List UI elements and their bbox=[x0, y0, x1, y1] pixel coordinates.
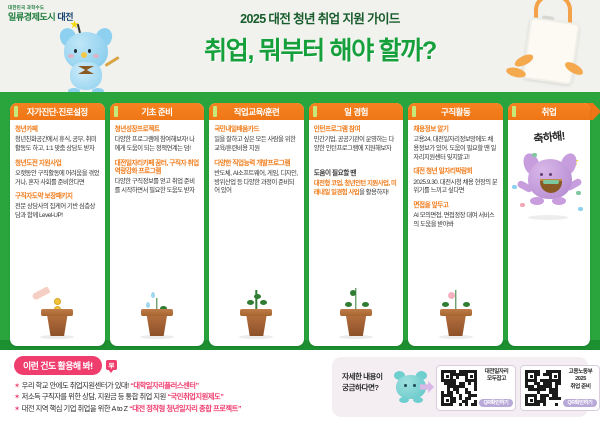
item-body: 민간기업, 공공기관이 운영하는 다양한 인턴프로그램에 지원해보자 bbox=[314, 136, 399, 153]
item-title: 대전 청년 일자리박람회 bbox=[413, 168, 498, 176]
qr-card-daejeon[interactable]: 대전일자리 모두잡고 QR확인하기 bbox=[436, 365, 516, 411]
tag-icon bbox=[412, 106, 416, 117]
stage-column-employment[interactable]: 취업 축하해! bbox=[508, 103, 590, 346]
footer-tips: 이런 건도 활용해 봐!早 ✶우리 학교 안에도 취업지원센터가 있대! “대학… bbox=[14, 356, 314, 414]
item-body: 2025.9.30. 대전시청 채용 현장의 분위기를 느끼고 싶다면 bbox=[413, 179, 498, 196]
plant-flower-icon bbox=[408, 290, 503, 340]
bullet-highlight: “대전 정착형 청년일자리 종합 프로젝트” bbox=[129, 404, 241, 413]
qr-code-icon bbox=[441, 370, 477, 406]
page-title: 취업, 뭐부터 해야 할까? bbox=[120, 31, 520, 67]
list-item: 청년성장프로젝트 다양한 프로그램에 참여해보자! 나에게 도움이 되는 정책연… bbox=[115, 126, 200, 154]
header-titles: 2025 대전 청년 취업 지원 가이드 취업, 뭐부터 해야 할까? bbox=[120, 8, 520, 67]
tag-icon bbox=[114, 106, 118, 117]
item-title: 채용정보 알기 bbox=[413, 126, 498, 134]
column-header: 직업교육/훈련 bbox=[209, 103, 304, 120]
stage-column-work-experience[interactable]: 일 경험 인턴프로그램 참여 민간기업, 공공기관이 운영하는 다양한 인턴프로… bbox=[309, 103, 404, 346]
item-body: 다양한 프로그램에 참여해보자! 나에게 도움이 되는 정책연계는 덤! bbox=[115, 136, 200, 153]
plant-seed-icon bbox=[10, 290, 105, 340]
item-highlight: 대전형 코업, 청년인턴 지원사업, 미래내일 일경험 사업을 활용하자! bbox=[314, 180, 399, 197]
qr-card-moel[interactable]: 고용노동부 2025 취업 준비 QR확인하기 bbox=[520, 365, 600, 411]
list-item: 국민내일배움카드 일을 잘하고 싶은 모든 사람을 위한 교육/훈련비용 지원 bbox=[214, 126, 299, 154]
item-tail: 을 활용하자! bbox=[359, 189, 388, 196]
column-header-label: 직업교육/훈련 bbox=[234, 106, 280, 118]
footer-bullet-list: ✶우리 학교 안에도 취업지원센터가 있대! “대학일자리플러스센터” ✶저소득… bbox=[14, 380, 314, 414]
plant-sprout-icon bbox=[110, 290, 205, 340]
plant-bud-icon bbox=[309, 290, 404, 340]
bullet-text: 우리 학교 안에도 취업지원센터가 있대! bbox=[22, 381, 131, 390]
purple-mascot-icon bbox=[518, 151, 582, 217]
footer-pill-label: 이런 건도 활용해 봐! bbox=[14, 356, 102, 375]
list-item: ✶우리 학교 안에도 취업지원센터가 있대! “대학일자리플러스센터” bbox=[14, 380, 314, 391]
stage-column-job-search[interactable]: 구직활동 채용정보 알기 고용24, 대전일자리정보망에도 채용정보가 있어. … bbox=[408, 103, 503, 346]
poster-footer: 이런 건도 활용해 봐!早 ✶우리 학교 안에도 취업지원센터가 있대! “대학… bbox=[0, 350, 600, 424]
stage-column-self-diagnosis[interactable]: 자가진단·진로설정 청년카페 청년친화공간에서 휴식, 공부, 취미활동도 하고… bbox=[10, 103, 105, 346]
column-header-label: 구직활동 bbox=[441, 106, 470, 118]
qr-panel: 자세한 내용이 궁금하다면? 대전일자리 모두잡고 QR확인하기 고용노동부 2… bbox=[332, 357, 588, 417]
item-body: 일을 잘하고 싶은 모든 사람을 위한 교육/훈련비용 지원 bbox=[214, 136, 299, 153]
brand-line2: 일류경제도시 대전 bbox=[8, 13, 73, 22]
column-header-label: 일 경험 bbox=[344, 106, 368, 118]
list-item: 청년카페 청년친화공간에서 휴식, 공부, 취미활동도 하고, 1:1 맞춤 상… bbox=[15, 126, 100, 154]
list-item: 다양한 직업능력 개발프로그램 반도체, AI소프트웨어, 게임, 디자인, 방… bbox=[214, 160, 299, 196]
item-title: 면접을 앞두고 bbox=[413, 202, 498, 210]
bullet-text: 저소득 구직자를 위한 상담, 지원금 등 통합 취업 지원 bbox=[22, 392, 168, 401]
column-header-label: 자가진단·진로설정 bbox=[27, 106, 88, 118]
qr-code-icon bbox=[525, 370, 561, 406]
qr-card-label: 대전일자리 모두잡고 bbox=[480, 369, 513, 384]
list-item: ✶저소득 구직자를 위한 상담, 지원금 등 통합 취업 지원 “국민취업지원제… bbox=[14, 391, 314, 402]
column-header: 취업 bbox=[508, 103, 590, 120]
qr-card-label: 고용노동부 2025 취업 준비 bbox=[564, 369, 597, 391]
bullet-highlight: “국민취업지원제도” bbox=[167, 392, 223, 401]
qr-confirm-button[interactable]: QR확인하기 bbox=[563, 399, 597, 407]
item-title: 인턴프로그램 참여 bbox=[314, 126, 399, 134]
stage-columns: 자가진단·진로설정 청년카페 청년친화공간에서 휴식, 공부, 취미활동도 하고… bbox=[10, 103, 590, 346]
item-body: 반도체, AI소프트웨어, 게임, 디자인, 방위산업 등 다양한 과정이 준비… bbox=[214, 170, 299, 196]
column-header: 자가진단·진로설정 bbox=[10, 103, 105, 120]
brand-line2-b: 대전 bbox=[57, 12, 73, 22]
list-item: 도움이 필요할 땐 대전형 코업, 청년인턴 지원사업, 미래내일 일경험 사업… bbox=[314, 170, 399, 198]
brand-line1: 대한민국 과학수도 bbox=[8, 6, 73, 11]
tag-icon bbox=[313, 106, 317, 117]
item-title: 다양한 직업능력 개발프로그램 bbox=[214, 160, 299, 168]
qr-question: 자세한 내용이 궁금하다면? bbox=[342, 371, 383, 394]
item-body: 오랫동안 구직활동에 어려움을 겪었거나, 혼자 사회를 준비한다면 bbox=[15, 170, 100, 187]
item-title: 도움이 필요할 땐 bbox=[314, 170, 399, 178]
column-header: 기초 준비 bbox=[110, 103, 205, 120]
column-header-label: 취업 bbox=[542, 106, 557, 118]
brand-line2-a: 일류경제도시 bbox=[8, 12, 57, 22]
id-card-icon bbox=[520, 0, 578, 92]
tag-icon bbox=[14, 106, 18, 117]
hand-icon bbox=[31, 286, 50, 301]
list-item: 면접을 앞두고 AI 모의면접, 면접정장 대여 서비스의 도움을 받아봐 bbox=[413, 202, 498, 230]
header-subtitle: 2025 대전 청년 취업 지원 가이드 bbox=[120, 8, 520, 27]
column-header-label: 기초 준비 bbox=[141, 106, 172, 118]
column-header: 구직활동 bbox=[408, 103, 503, 120]
speech-bubble-icon: 早 bbox=[106, 360, 117, 370]
plant-leaf-icon bbox=[209, 290, 304, 340]
item-body: 다양한 구직정보를 얻고 취업 준비를 시작하면서 필요한 도움도 받자 bbox=[115, 178, 200, 195]
blue-mascot-icon bbox=[52, 22, 122, 96]
item-body: 청년친화공간에서 휴식, 공부, 취미활동도 하고, 1:1 맞춤 상담도 받자 bbox=[15, 136, 100, 153]
bullet-text: 대전 지역 핵심 기업 취업을 위한 A to Z bbox=[22, 404, 130, 413]
item-title: 국민내일배움카드 bbox=[214, 126, 299, 134]
list-item: 구직자도약 보장패키지 전문 상담사의 집케어 기반 심층상담과 함께 Leve… bbox=[15, 193, 100, 221]
item-title: 대전일자리카페 꿈터, 구직자 취업역량강화 프로그램 bbox=[115, 160, 200, 176]
list-item: 대전 청년 일자리박람회 2025.9.30. 대전시청 채용 현장의 분위기를… bbox=[413, 168, 498, 196]
item-title: 청년카페 bbox=[15, 126, 100, 134]
qr-confirm-button[interactable]: QR확인하기 bbox=[479, 399, 513, 407]
list-item: 대전일자리카페 꿈터, 구직자 취업역량강화 프로그램 다양한 구직정보를 얻고… bbox=[115, 160, 200, 196]
celebration-text: 축하해! bbox=[508, 125, 590, 149]
poster-header: 대한민국 과학수도 일류경제도시 대전 2025 대전 청년 취업 지원 가이드… bbox=[0, 0, 600, 96]
item-title: 구직자도약 보장패키지 bbox=[15, 193, 100, 201]
item-title: 청년도전 지원사업 bbox=[15, 160, 100, 168]
list-item: 청년도전 지원사업 오랫동안 구직활동에 어려움을 겪었거나, 혼자 사회를 준… bbox=[15, 160, 100, 188]
poster-root: 대한민국 과학수도 일류경제도시 대전 2025 대전 청년 취업 지원 가이드… bbox=[0, 0, 600, 424]
stage-column-basic-prep[interactable]: 기초 준비 청년성장프로젝트 다양한 프로그램에 참여해보자! 나에게 도움이 … bbox=[110, 103, 205, 346]
column-header: 일 경험 bbox=[309, 103, 404, 120]
stage-column-vocational-training[interactable]: 직업교육/훈련 국민내일배움카드 일을 잘하고 싶은 모든 사람을 위한 교육/… bbox=[209, 103, 304, 346]
city-logo: 대한민국 과학수도 일류경제도시 대전 bbox=[8, 6, 73, 22]
tag-icon bbox=[213, 106, 217, 117]
list-item: ✶대전 지역 핵심 기업 취업을 위한 A to Z “대전 정착형 청년일자리… bbox=[14, 403, 314, 414]
tag-icon bbox=[512, 106, 516, 117]
item-body: 고용24, 대전일자리정보망에도 채용정보가 있어. 도움이 필요할 땐 일자리… bbox=[413, 136, 498, 162]
teal-mascot-icon bbox=[394, 371, 430, 405]
item-body: AI 모의면접, 면접정장 대여 서비스의 도움을 받아봐 bbox=[413, 212, 498, 229]
list-item: 채용정보 알기 고용24, 대전일자리정보망에도 채용정보가 있어. 도움이 필… bbox=[413, 126, 498, 162]
item-body: 전문 상담사의 집케어 기반 심층상담과 함께 Level-UP! bbox=[15, 203, 100, 220]
item-title: 청년성장프로젝트 bbox=[115, 126, 200, 134]
list-item: 인턴프로그램 참여 민간기업, 공공기관이 운영하는 다양한 인턴프로그램에 지… bbox=[314, 126, 399, 154]
bullet-highlight: “대학일자리플러스센터” bbox=[130, 381, 198, 390]
